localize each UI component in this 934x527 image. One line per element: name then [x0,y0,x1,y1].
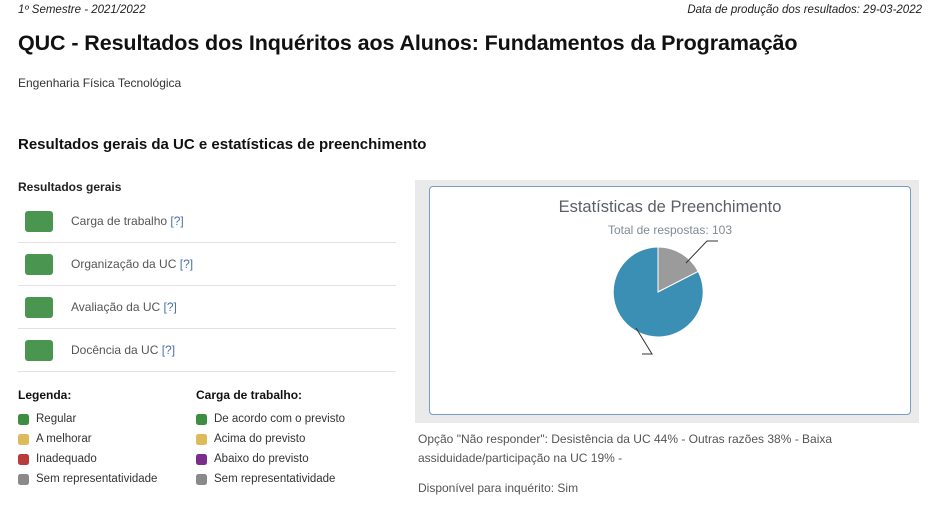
legend-item-label: Acima do previsto [214,433,305,445]
legend-item-de-acordo-com-o-previsto: De acordo com o previsto [196,409,374,429]
legend-dot-green [18,414,29,425]
legend-workload: Carga de trabalho: De acordo com o previ… [196,388,374,489]
legend-general-title: Legenda: [18,388,196,402]
status-swatch-green [25,297,53,318]
leader-line-nao-responder [686,241,718,263]
legend-dot-gray [196,474,207,485]
help-icon[interactable]: [?] [164,300,177,314]
production-date-label: Data de produção dos resultados: 29-03-2… [687,4,922,16]
section-heading: Resultados gerais da UC e estatísticas d… [18,136,426,153]
legend-item-sem-representatividade: Sem representatividade [196,469,374,489]
result-label: Avaliação da UC [?] [71,300,177,314]
semester-label: 1º Semestre - 2021/2022 [18,4,146,16]
status-swatch-green [25,340,53,361]
legend-item-label: Sem representatividade [214,473,335,485]
pie-slices [613,247,703,337]
legends-area: Legenda: Regular A melhorar Inadequado S… [18,388,396,489]
result-label-text: Organização da UC [71,257,176,271]
chart-notes: Opção "Não responder": Desistência da UC… [418,430,878,498]
result-row-docencia-da-uc[interactable]: Docência da UC [?] [18,329,396,372]
help-icon[interactable]: [?] [180,257,193,271]
pie-chart [430,187,910,414]
page-root: 1º Semestre - 2021/2022 Data de produção… [0,0,934,527]
fill-statistics-panel: Estatísticas de Preenchimento Total de r… [415,180,919,423]
legend-item-regular: Regular [18,409,196,429]
status-swatch-green [25,254,53,275]
result-label: Organização da UC [?] [71,257,193,271]
legend-dot-gray [18,474,29,485]
legend-dot-red [18,454,29,465]
legend-item-abaixo-do-previsto: Abaixo do previsto [196,449,374,469]
general-results-panel: Resultados gerais Carga de trabalho [?] … [18,180,396,372]
note-disponivel-para-inquerito: Disponível para inquérito: Sim [418,479,878,498]
result-label: Docência da UC [?] [71,343,175,357]
legend-dot-green [196,414,207,425]
course-name: Engenharia Física Tecnológica [18,76,181,90]
legend-general: Legenda: Regular A melhorar Inadequado S… [18,388,196,489]
legend-item-sem-representatividade: Sem representatividade [18,469,196,489]
meta-bar: 1º Semestre - 2021/2022 Data de produção… [0,0,934,22]
legend-item-label: Abaixo do previsto [214,453,309,465]
legend-workload-title: Carga de trabalho: [196,388,374,402]
status-swatch-green [25,211,53,232]
result-label-text: Carga de trabalho [71,214,167,228]
note-nao-responder: Opção "Não responder": Desistência da UC… [418,430,878,467]
pie-chart-svg [430,187,912,414]
legend-dot-yellow [196,434,207,445]
help-icon[interactable]: [?] [162,343,175,357]
result-label-text: Avaliação da UC [71,300,160,314]
legend-item-label: Sem representatividade [36,473,157,485]
result-label-text: Docência da UC [71,343,158,357]
legend-item-a-melhorar: A melhorar [18,429,196,449]
legend-item-label: Inadequado [36,453,97,465]
help-icon[interactable]: [?] [170,214,183,228]
legend-item-inadequado: Inadequado [18,449,196,469]
legend-item-acima-do-previsto: Acima do previsto [196,429,374,449]
legend-item-label: De acordo com o previsto [214,413,345,425]
result-label: Carga de trabalho [?] [71,214,184,228]
legend-dot-purple [196,454,207,465]
legend-item-label: Regular [36,413,76,425]
chart-card: Estatísticas de Preenchimento Total de r… [429,186,911,415]
page-title: QUC - Resultados dos Inquéritos aos Alun… [18,31,797,56]
result-row-avaliacao-da-uc[interactable]: Avaliação da UC [?] [18,286,396,329]
result-row-organizacao-da-uc[interactable]: Organização da UC [?] [18,243,396,286]
result-row-carga-de-trabalho[interactable]: Carga de trabalho [?] [18,200,396,243]
general-results-subtitle: Resultados gerais [18,180,396,194]
legend-item-label: A melhorar [36,433,92,445]
legend-dot-yellow [18,434,29,445]
